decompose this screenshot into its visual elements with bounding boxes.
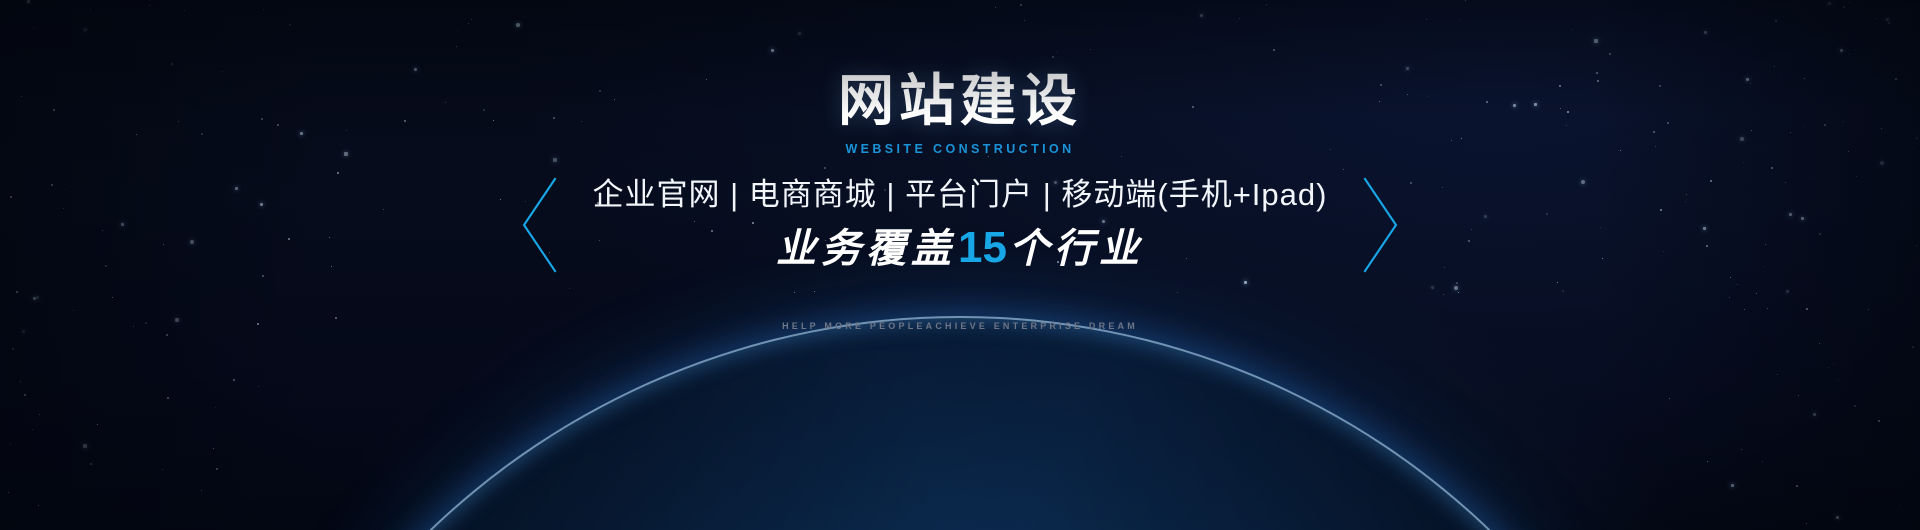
coverage-statement: 业务覆盖15个行业 [593, 223, 1328, 274]
page-subtitle-english: WEBSITE CONSTRUCTION [0, 143, 1920, 156]
banner-content: 网站建设 WEBSITE CONSTRUCTION 企业官网 | 电商商城 | … [0, 0, 1920, 530]
footer-tagline-english: HELP MORE PEOPLEACHIEVE ENTERPRISE DREAM [0, 322, 1920, 331]
chevron-right-icon [1361, 175, 1401, 275]
service-list: 企业官网 | 电商商城 | 平台门户 | 移动端(手机+Ipad) [593, 176, 1328, 215]
tagline-row: 企业官网 | 电商商城 | 平台门户 | 移动端(手机+Ipad) 业务覆盖15… [0, 160, 1920, 290]
coverage-suffix: 个行业 [1009, 226, 1144, 271]
tagline-stack: 企业官网 | 电商商城 | 平台门户 | 移动端(手机+Ipad) 业务覆盖15… [593, 176, 1328, 273]
title-block: 网站建设 WEBSITE CONSTRUCTION [0, 72, 1920, 155]
website-construction-banner: 网站建设 WEBSITE CONSTRUCTION 企业官网 | 电商商城 | … [0, 0, 1920, 530]
chevron-left-icon [519, 175, 559, 275]
page-title: 网站建设 [0, 72, 1920, 131]
coverage-prefix: 业务覆盖 [776, 226, 956, 271]
coverage-industry-count: 15 [956, 223, 1009, 272]
